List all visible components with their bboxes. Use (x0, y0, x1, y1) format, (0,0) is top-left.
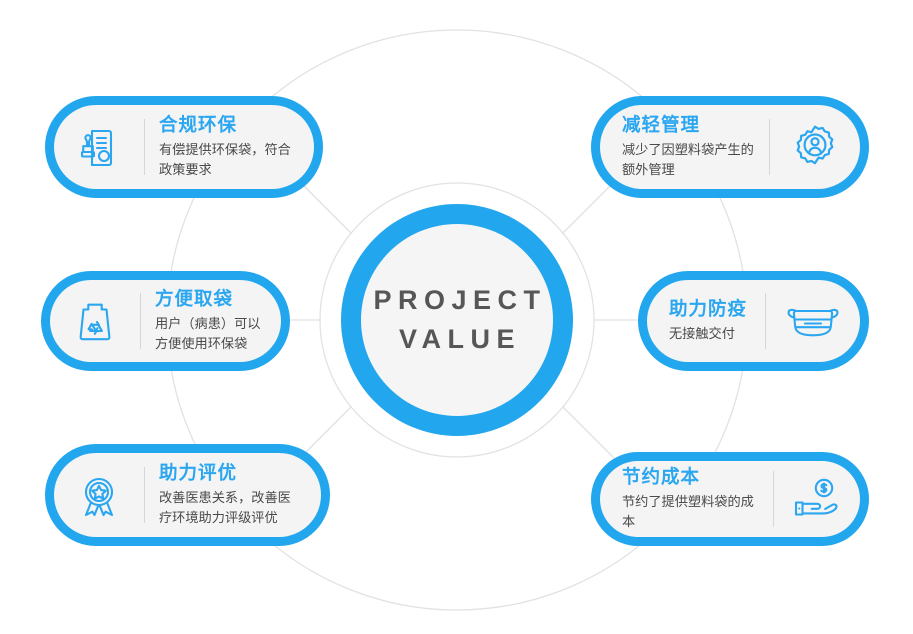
award-medal-icon (68, 471, 130, 519)
hand-money-icon (788, 477, 846, 521)
card-rating-boost-text: 助力评优 改善医患关系，改善医疗环境助力评级评优 (159, 461, 303, 529)
card-cost-saving-text: 节约成本 节约了提供塑料袋的成本 (622, 465, 759, 533)
document-stamp-icon (68, 123, 130, 171)
face-mask-icon (780, 300, 846, 342)
card-epidemic-prevention-text: 助力防疫 无接触交付 (669, 297, 751, 344)
card-divider (769, 119, 770, 175)
center-title-line-2: VALUE (393, 320, 521, 359)
card-convenient-bag-desc: 用户（病患）可以方便使用环保袋 (155, 314, 263, 355)
card-divider (765, 293, 766, 349)
card-rating-boost-desc: 改善医患关系，改善医疗环境助力评级评优 (159, 488, 303, 529)
card-divider (140, 293, 141, 349)
card-reduced-management-title: 减轻管理 (622, 113, 755, 138)
card-cost-saving-body: 节约成本 节约了提供塑料袋的成本 (600, 461, 860, 537)
card-divider (144, 119, 145, 175)
card-compliance-desc: 有偿提供环保袋，符合政策要求 (159, 140, 296, 181)
card-compliance-text: 合规环保 有偿提供环保袋，符合政策要求 (159, 113, 296, 181)
card-reduced-management[interactable]: 减轻管理 减少了因塑料袋产生的额外管理 (591, 96, 869, 198)
card-rating-boost-body: 助力评优 改善医患关系，改善医疗环境助力评级评优 (54, 453, 321, 537)
card-compliance-body: 合规环保 有偿提供环保袋，符合政策要求 (54, 105, 314, 189)
card-cost-saving-title: 节约成本 (622, 465, 759, 490)
card-convenient-bag[interactable]: 方便取袋 用户（病患）可以方便使用环保袋 (41, 271, 290, 371)
center-hub: PROJECT VALUE (341, 204, 573, 436)
card-compliance-title: 合规环保 (159, 113, 296, 138)
recycle-bag-icon (64, 298, 126, 344)
card-convenient-bag-text: 方便取袋 用户（病患）可以方便使用环保袋 (155, 287, 263, 355)
card-convenient-bag-title: 方便取袋 (155, 287, 263, 312)
center-hub-inner: PROJECT VALUE (361, 224, 553, 416)
card-rating-boost-title: 助力评优 (159, 461, 303, 486)
card-divider (773, 471, 774, 527)
card-reduced-management-text: 减轻管理 减少了因塑料袋产生的额外管理 (622, 113, 755, 181)
gear-person-icon (784, 122, 846, 172)
card-divider (144, 467, 145, 523)
card-cost-saving-desc: 节约了提供塑料袋的成本 (622, 492, 759, 533)
card-convenient-bag-body: 方便取袋 用户（病患）可以方便使用环保袋 (50, 280, 281, 362)
card-compliance[interactable]: 合规环保 有偿提供环保袋，符合政策要求 (45, 96, 323, 198)
card-rating-boost[interactable]: 助力评优 改善医患关系，改善医疗环境助力评级评优 (45, 444, 330, 546)
card-cost-saving[interactable]: 节约成本 节约了提供塑料袋的成本 (591, 452, 869, 546)
center-title-line-1: PROJECT (367, 281, 546, 320)
card-epidemic-prevention-desc: 无接触交付 (669, 324, 751, 344)
card-reduced-management-desc: 减少了因塑料袋产生的额外管理 (622, 140, 755, 181)
card-epidemic-prevention-title: 助力防疫 (669, 297, 751, 322)
infographic-canvas: PROJECT VALUE 合规环保 有偿提供环保袋，符合政策要求 (0, 0, 913, 634)
card-epidemic-prevention-body: 助力防疫 无接触交付 (647, 280, 860, 362)
card-epidemic-prevention[interactable]: 助力防疫 无接触交付 (638, 271, 869, 371)
card-reduced-management-body: 减轻管理 减少了因塑料袋产生的额外管理 (600, 105, 860, 189)
